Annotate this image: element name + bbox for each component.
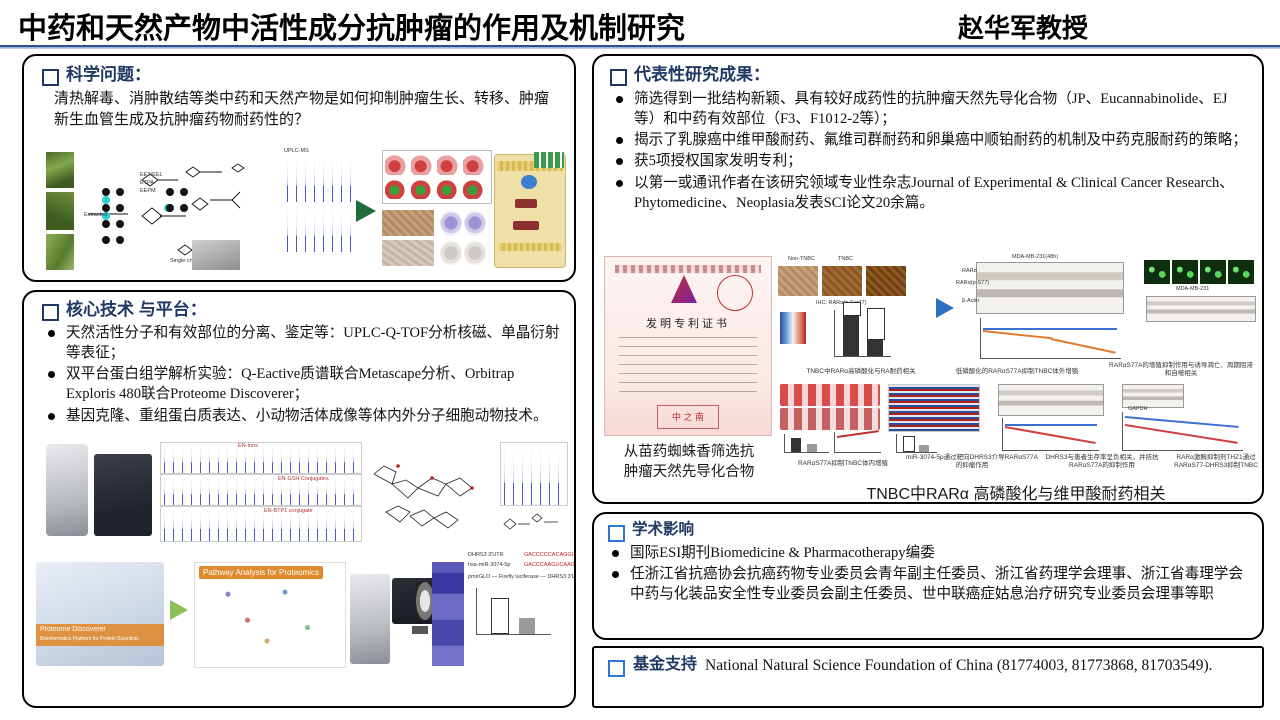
fluorescence-image-1	[1144, 260, 1170, 284]
reaction-scheme-small	[500, 506, 566, 540]
square-bullet-icon	[608, 660, 625, 677]
caption-patent-line2: 肿瘤天然先导化合物	[606, 460, 772, 481]
pathway-analysis-tag: Pathway Analysis for Proteomics	[199, 566, 323, 579]
mirna-bar-chart	[896, 434, 937, 453]
figure-proteomics: Proteome Discoverer Bioinformatics Platf…	[32, 560, 464, 678]
ihc-image-2	[382, 240, 434, 266]
dhrs3-western-blot	[998, 384, 1104, 416]
figure-panel-row-1: Non-TNBC TNBC IHC: RARα(p-Ser77) MDA-MB-…	[776, 254, 1260, 362]
list-item: 双平台蛋白组学解析实验：Q-Eactive质谱联合Metascape分析、Orb…	[38, 364, 564, 404]
poster-root: 中药和天然产物中活性成分抗肿瘤的作用及机制研究 赵华军教授 科学问题： 清热解毒…	[0, 0, 1280, 720]
western-blot-panel-2	[1146, 296, 1256, 322]
square-bullet-icon	[610, 69, 627, 86]
chemistry-scheme: EET/EEL ETPA EEPM Extracted Single cryst…	[82, 154, 282, 270]
pathway-network-graph: Pathway Analysis for Proteomics	[194, 562, 346, 668]
ihc-tnbc-2	[866, 266, 906, 296]
sds-page-gel-photo	[432, 562, 464, 666]
outcome-icon-1	[534, 152, 564, 168]
panel-caption-2: 低磷酸化的RARαS77A抑制TNBC体外增殖	[938, 368, 1096, 376]
caption-tnbc-summary: TNBC中RARα 高磷酸化与维甲酸耐药相关	[776, 480, 1256, 504]
panel-caption-3: RARαS77A的增殖抑制作用与诱导凋亡、周期阻滞和自噬相关	[1106, 362, 1256, 378]
proteome-discoverer-photo: Proteome Discoverer Bioinformatics Platf…	[36, 562, 164, 666]
panel-caption-5: miR-3074-5p通过靶向DHRS3介导RARαS77A的抑瘤作用	[904, 454, 1040, 470]
author-name: 赵华军教授	[958, 8, 1088, 45]
survival-curve	[1002, 418, 1099, 451]
tumor-photo-row-1	[780, 384, 880, 406]
panel-caption-7: RARα激酶抑制剂THZ1通过RARαS77-DHRS3抑制TNBC	[1170, 454, 1262, 470]
2d-nmr-plot	[500, 442, 568, 506]
patent-title: 发明专利证书	[605, 315, 771, 331]
western-blot-panel	[976, 262, 1124, 314]
ms-instrument-photo	[94, 454, 152, 536]
list-item: 天然活性分子和有效部位的分离、鉴定等：UPLC-Q-TOF分析核磁、单晶衍射等表…	[38, 323, 564, 363]
list-item: 国际ESI期刊Biomedicine & Pharmacotherapy编委	[602, 543, 1250, 563]
thz1-western-blot	[1122, 384, 1184, 408]
tumor-weight-chart	[784, 434, 829, 453]
ms-spectrum-3	[160, 506, 362, 542]
funding-row: 基金支持 National Natural Science Foundation…	[608, 656, 1248, 677]
panel-caption-1: TNBC中RARα高磷酸化与RA耐药相关	[788, 368, 934, 376]
flow-cytometry-grid	[382, 150, 492, 204]
plant-photo-3	[46, 234, 74, 270]
page-title: 中药和天然产物中活性成分抗肿瘤的作用及机制研究	[18, 5, 685, 47]
process-arrow-icon	[356, 200, 376, 222]
fluorescence-image-4	[1228, 260, 1254, 284]
chem-scheme-svg	[82, 154, 282, 270]
academic-impact-bullets: 国际ESI期刊Biomedicine & Pharmacotherapy编委 任…	[602, 543, 1250, 604]
luciferase-bar-chart	[476, 588, 551, 635]
crystal-photo	[192, 240, 240, 270]
ms-spectrum-1	[160, 442, 362, 474]
square-bullet-icon	[608, 525, 625, 542]
cell-viability-line-chart	[980, 318, 1121, 359]
title-divider	[0, 45, 1280, 49]
list-item: 获5项授权国家发明专利；	[606, 151, 1248, 171]
card-funding: 基金支持 National Natural Science Foundation…	[592, 646, 1264, 708]
ihc-image-1	[382, 210, 434, 236]
achievements-heading: 代表性研究成果：	[610, 65, 1262, 86]
card-core-technology: 核心技术 与平台： 天然活性分子和有效部位的分离、鉴定等：UPLC-Q-TOF分…	[22, 290, 576, 708]
panel-caption-6: DHRS3与患者生存率呈负相关，并拮抗RARαS77A的抑制作用	[1032, 454, 1172, 470]
patent-certificate-image: 发明专利证书 中 之 南	[604, 256, 772, 436]
academic-impact-heading: 学术影响	[608, 521, 1262, 542]
card-academic-impact: 学术影响 国际ESI期刊Biomedicine & Pharmacotherap…	[592, 512, 1264, 640]
list-item: 以第一或通讯作者在该研究领域专业性杂志Journal of Experiment…	[606, 173, 1248, 213]
ihc-non-tnbc	[778, 266, 818, 296]
ihc-score-bar-chart	[834, 310, 891, 357]
funding-heading: 基金支持	[633, 656, 697, 675]
title-bar: 中药和天然产物中活性成分抗肿瘤的作用及机制研究 赵华军教授	[0, 0, 1280, 46]
spectrum-panel-2	[284, 206, 354, 252]
colony-image-3	[440, 240, 462, 266]
colony-image-1	[440, 210, 462, 236]
ihc-tnbc-1	[822, 266, 862, 296]
nmr-instrument-photo	[46, 444, 88, 536]
plant-photo-1	[46, 152, 74, 188]
score-legend	[780, 312, 806, 344]
plant-photo-2	[46, 192, 74, 230]
list-item: 基因克隆、重组蛋白质表达、小动物活体成像等体内外分子细胞动物技术。	[38, 406, 564, 426]
square-bullet-icon	[42, 69, 59, 86]
flow-arrow-icon	[170, 600, 188, 620]
achievements-bullets: 筛选得到一批结构新颖、具有较好成药性的抗肿瘤天然先导化合物（JP、Eucanna…	[606, 89, 1248, 213]
list-item: 揭示了乳腺癌中维甲酸耐药、氟维司群耐药和卵巢癌中顺铂耐药的机制及中药克服耐药的策…	[606, 130, 1248, 150]
caption-patent-line1: 从苗药蜘蛛香筛选抗	[606, 440, 772, 461]
tumor-growth-curve	[834, 432, 881, 453]
imaging-instrument-photo	[350, 574, 390, 664]
colony-image-4	[464, 240, 486, 266]
figure-panel-row-2: MDA-MB-231 GAPDH	[776, 382, 1260, 454]
mirna-heatmap	[888, 384, 980, 432]
card-achievements: 代表性研究成果： 筛选得到一批结构新颖、具有较好成药性的抗肿瘤天然先导化合物（J…	[592, 54, 1264, 504]
panel-caption-4: RARαS77A抑制TNBC体内增殖	[778, 460, 908, 468]
spectrum-panel-1	[284, 156, 354, 202]
funding-body: National Natural Science Foundation of C…	[705, 656, 1213, 677]
crystal-structure-1	[368, 440, 498, 540]
colony-image-2	[464, 210, 486, 236]
scientific-question-body: 清热解毒、消肿散结等类中药和天然产物是如何抑制肿瘤生长、转移、肿瘤新生血管生成及…	[54, 88, 560, 130]
card-scientific-question: 科学问题： 清热解毒、消肿散结等类中药和天然产物是如何抑制肿瘤生长、转移、肿瘤新…	[22, 54, 576, 282]
crystal-structure-svg	[368, 440, 498, 540]
fluorescence-image-3	[1200, 260, 1226, 284]
figure-gene-clone: DHRS3 3'UTR GACCCCCACAGGGAAGGCAGGAAA hsa…	[464, 550, 576, 642]
scientific-question-heading: 科学问题：	[42, 65, 574, 86]
list-item: 筛选得到一批结构新颖、具有较好成药性的抗肿瘤天然先导化合物（JP、Eucanna…	[606, 89, 1248, 129]
signaling-pathway-diagram	[494, 154, 566, 268]
core-technology-heading: 核心技术 与平台：	[42, 300, 574, 321]
figure-nmr-crystal: EN-Ions EN-GSH Conjugates EN-BTP1 conjug…	[32, 440, 572, 544]
list-item: 任浙江省抗癌协会抗癌药物专业委员会青年副主任委员、浙江省药理学会理事、浙江省毒理…	[602, 564, 1250, 604]
fluorescence-image-2	[1172, 260, 1198, 284]
figure-research-scheme: EET/EEL ETPA EEPM Extracted Single cryst…	[34, 148, 570, 276]
ms-spectrum-2	[160, 474, 362, 506]
tumor-photo-row-2	[780, 408, 880, 430]
panel-arrow-icon	[936, 298, 954, 318]
core-technology-bullets: 天然活性分子和有效部位的分离、鉴定等：UPLC-Q-TOF分析核磁、单晶衍射等表…	[38, 323, 564, 426]
square-bullet-icon	[42, 304, 59, 321]
thz1-dose-curve	[1122, 412, 1243, 451]
